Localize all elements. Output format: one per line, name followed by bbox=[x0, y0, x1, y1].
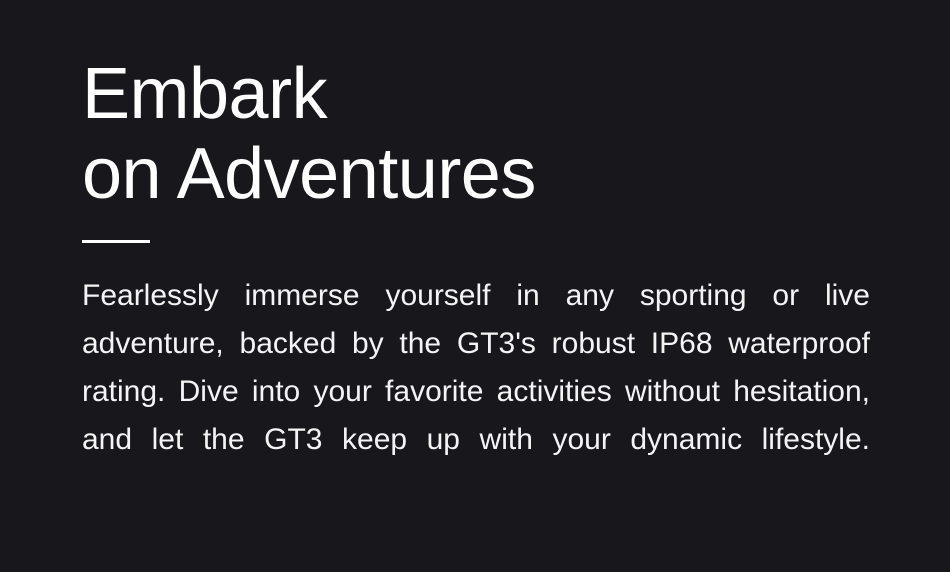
hero-content-wrapper: Embark on Adventures Fearlessly immerse … bbox=[82, 54, 870, 512]
hero-description-text: Fearlessly immerse yourself in any sport… bbox=[82, 272, 870, 512]
promo-hero-section: Embark on Adventures Fearlessly immerse … bbox=[0, 0, 950, 572]
accent-rule-divider bbox=[82, 240, 150, 243]
page-title: Embark on Adventures bbox=[82, 54, 870, 214]
